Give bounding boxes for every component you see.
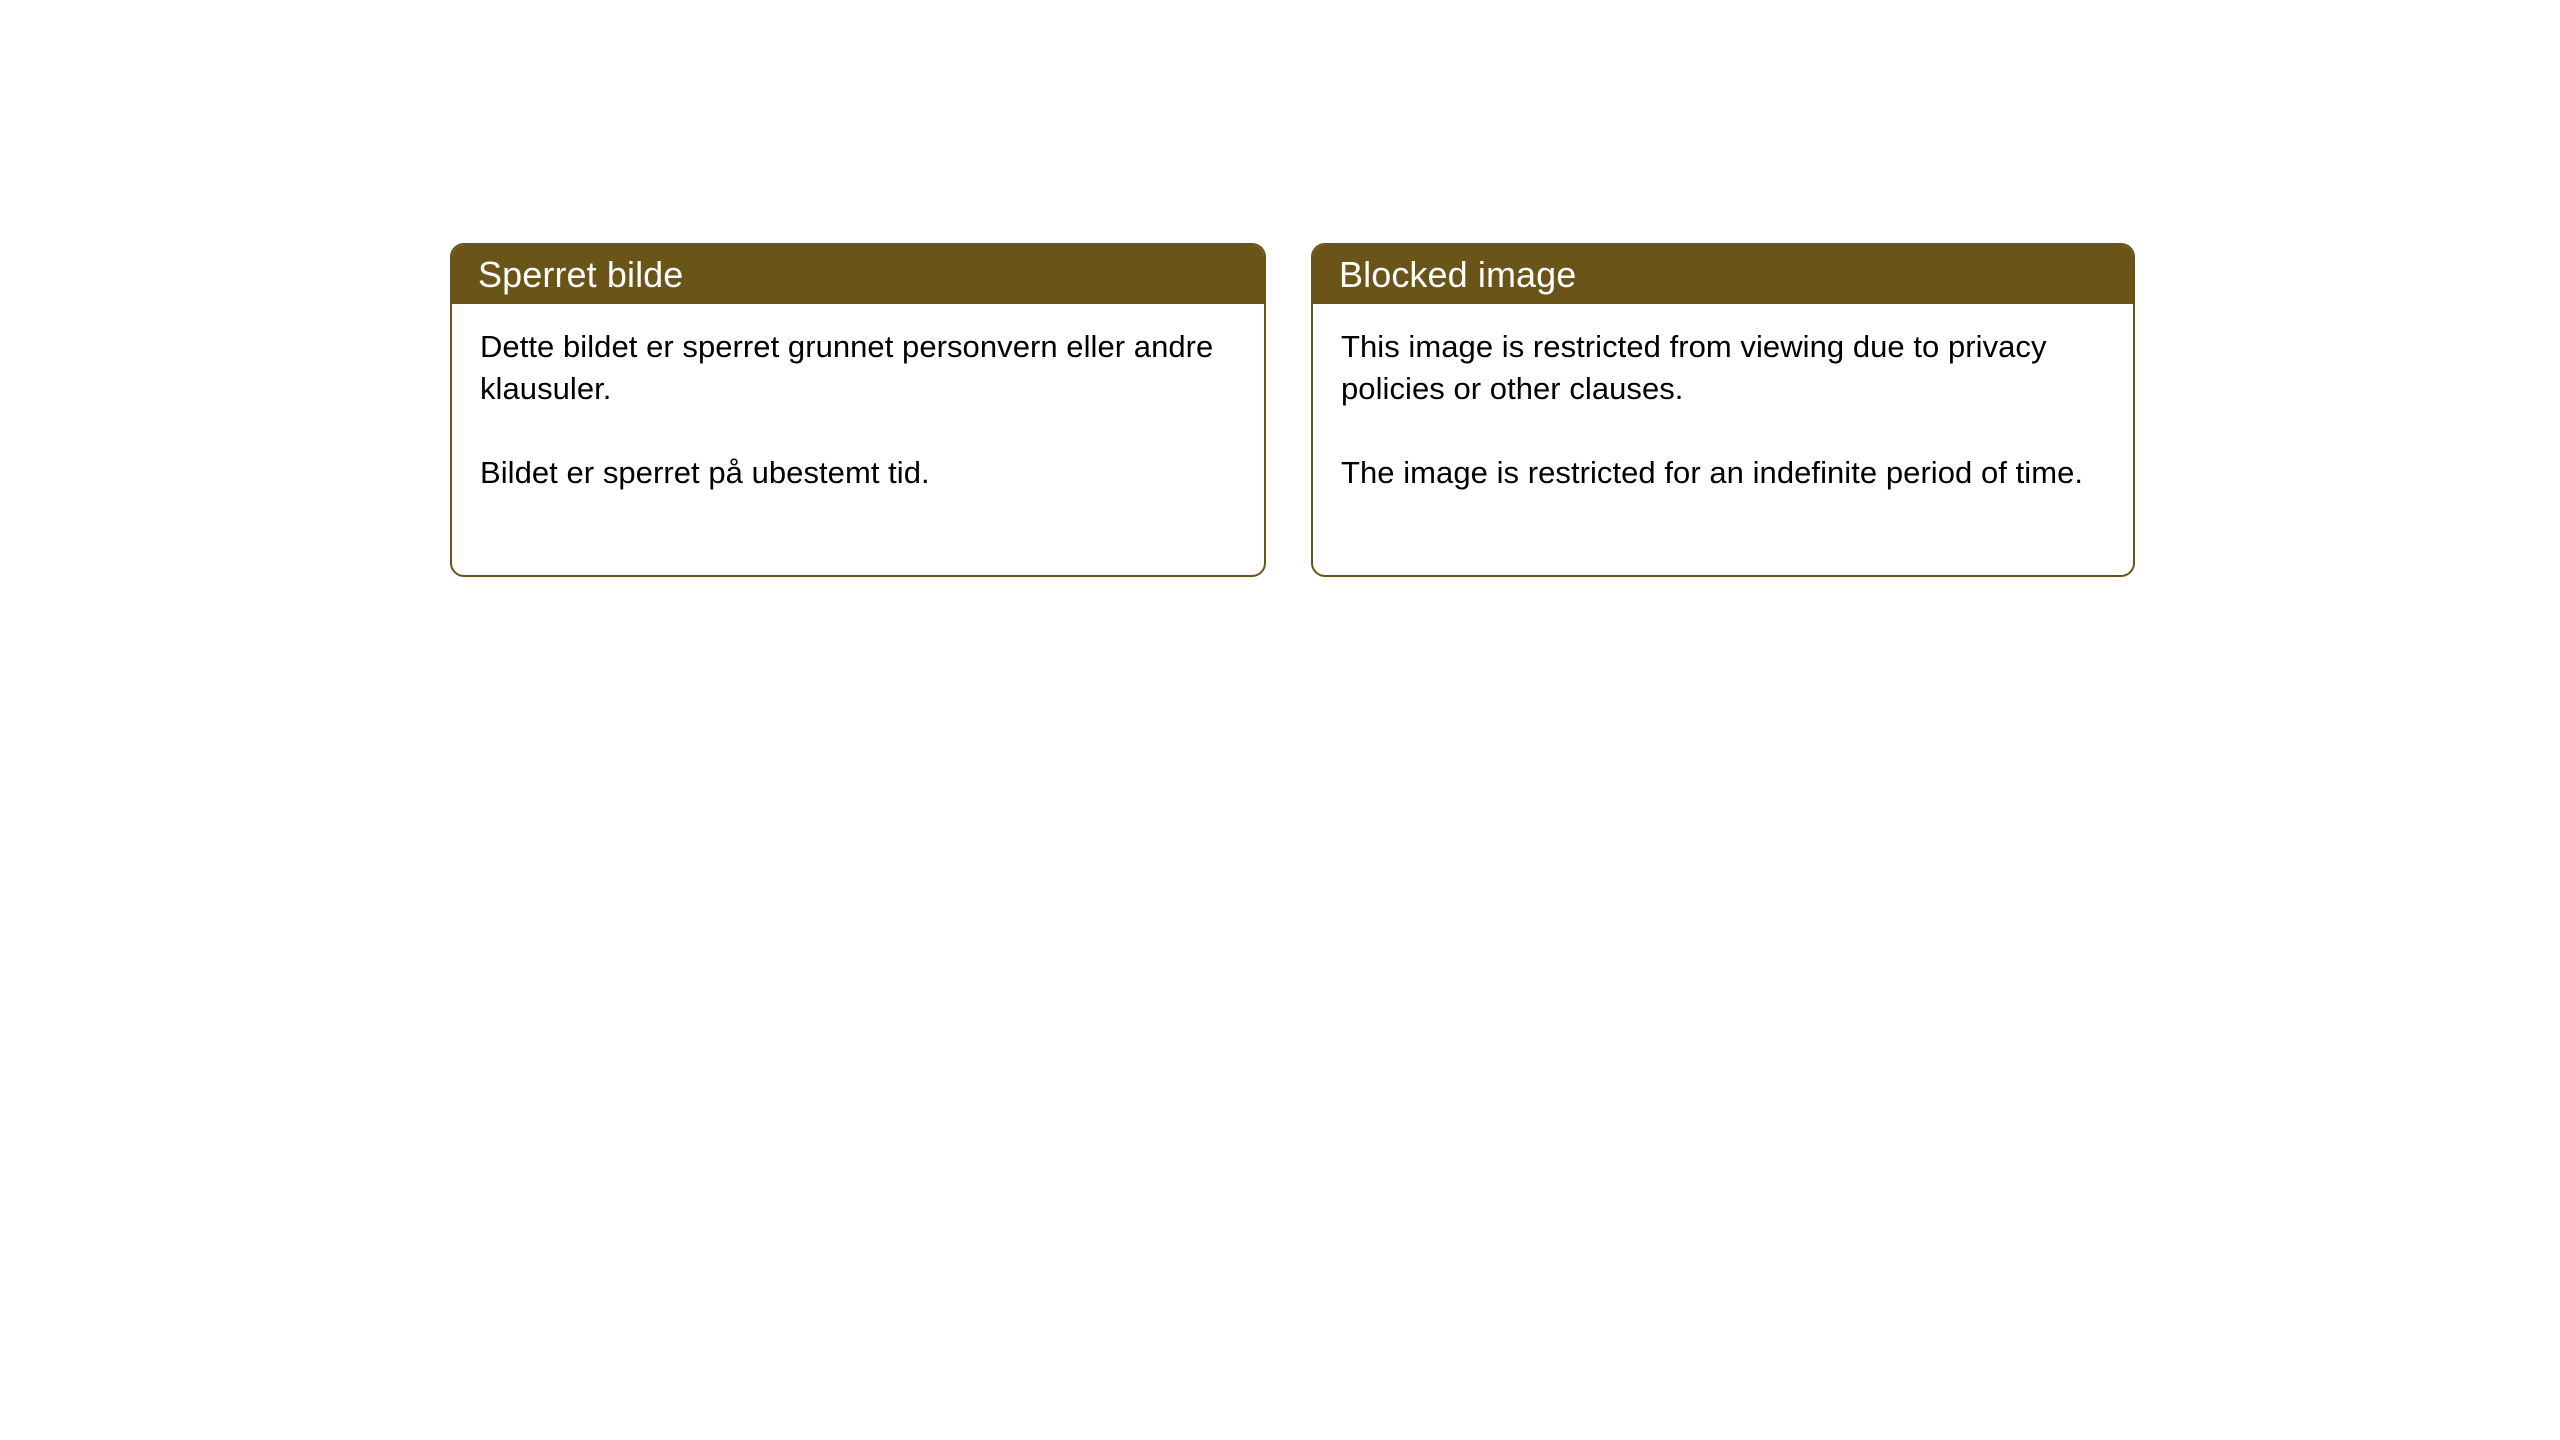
card-body-en: This image is restricted from viewing du…: [1313, 304, 2133, 514]
card-paragraph-duration-no: Bildet er sperret på ubestemt tid.: [480, 452, 1238, 494]
card-paragraph-duration-en: The image is restricted for an indefinit…: [1341, 452, 2107, 494]
card-title-no: Sperret bilde: [478, 257, 683, 293]
blocked-image-notice-card-en: Blocked image This image is restricted f…: [1311, 243, 2135, 577]
blocked-image-notice-card-no: Sperret bilde Dette bildet er sperret gr…: [450, 243, 1266, 577]
card-title-en: Blocked image: [1339, 257, 1576, 293]
card-body-no: Dette bildet er sperret grunnet personve…: [452, 304, 1264, 514]
page-canvas: Sperret bilde Dette bildet er sperret gr…: [0, 0, 2560, 1440]
card-header-no: Sperret bilde: [452, 245, 1264, 304]
card-header-en: Blocked image: [1313, 245, 2133, 304]
card-paragraph-reason-no: Dette bildet er sperret grunnet personve…: [480, 326, 1238, 410]
card-paragraph-reason-en: This image is restricted from viewing du…: [1341, 326, 2107, 410]
